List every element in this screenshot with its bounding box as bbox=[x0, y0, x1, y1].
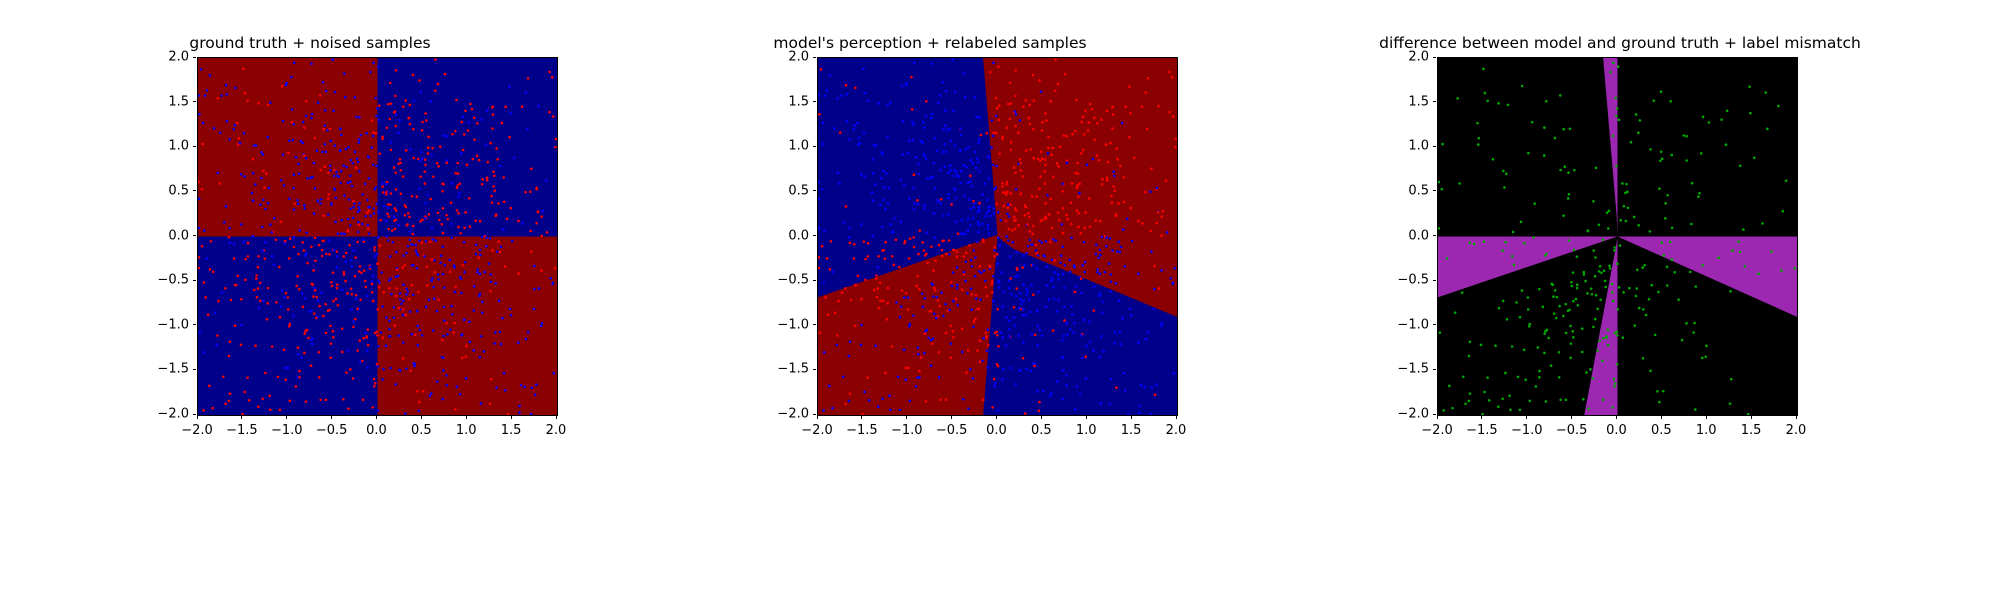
decision-regions-1 bbox=[818, 58, 1177, 415]
xtick-label: 0.0 bbox=[1606, 423, 1627, 438]
ytick-mark bbox=[813, 146, 817, 147]
subplot-title-2: difference between model and ground trut… bbox=[1240, 34, 2000, 52]
xtick-mark bbox=[1796, 416, 1797, 420]
ytick-label: 2.0 bbox=[761, 50, 809, 65]
xtick-label: 2.0 bbox=[546, 423, 567, 438]
xtick-label: −2.0 bbox=[181, 423, 213, 438]
xtick-label: 2.0 bbox=[1786, 423, 1807, 438]
xtick-mark bbox=[197, 416, 198, 420]
xtick-mark bbox=[996, 416, 997, 420]
ytick-mark bbox=[813, 101, 817, 102]
ytick-label: 1.5 bbox=[141, 94, 189, 109]
xtick-mark bbox=[906, 416, 907, 420]
ytick-label: −1.5 bbox=[141, 362, 189, 377]
xtick-label: −0.5 bbox=[936, 423, 968, 438]
plot-area-1 bbox=[817, 57, 1178, 416]
ytick-mark bbox=[193, 235, 197, 236]
subplot-ground-truth: ground truth + noised samples 2.01.51.00… bbox=[0, 0, 620, 600]
xtick-mark bbox=[1616, 416, 1617, 420]
ytick-label: 0.5 bbox=[141, 183, 189, 198]
ytick-mark bbox=[1433, 324, 1437, 325]
ytick-label: −0.5 bbox=[141, 273, 189, 288]
ytick-mark bbox=[1433, 101, 1437, 102]
xtick-mark bbox=[421, 416, 422, 420]
subplot-title-1: model's perception + relabeled samples bbox=[620, 34, 1240, 52]
ytick-label: −0.5 bbox=[761, 273, 809, 288]
xtick-mark bbox=[1571, 416, 1572, 420]
xtick-mark bbox=[1437, 416, 1438, 420]
xtick-label: −2.0 bbox=[801, 423, 833, 438]
ytick-mark bbox=[193, 57, 197, 58]
ytick-label: −1.0 bbox=[761, 317, 809, 332]
ytick-mark bbox=[813, 414, 817, 415]
ytick-label: 1.5 bbox=[761, 94, 809, 109]
ytick-mark bbox=[1433, 235, 1437, 236]
ytick-mark bbox=[1433, 146, 1437, 147]
xtick-label: −0.5 bbox=[316, 423, 348, 438]
xtick-mark bbox=[466, 416, 467, 420]
ytick-mark bbox=[1433, 369, 1437, 370]
ytick-mark bbox=[193, 190, 197, 191]
xtick-label: 2.0 bbox=[1166, 423, 1187, 438]
ytick-mark bbox=[1433, 414, 1437, 415]
ytick-label: −2.0 bbox=[761, 407, 809, 422]
ytick-mark bbox=[193, 280, 197, 281]
xtick-label: −1.5 bbox=[1466, 423, 1498, 438]
xtick-mark bbox=[1526, 416, 1527, 420]
ytick-label: 2.0 bbox=[1381, 50, 1429, 65]
xtick-label: −2.0 bbox=[1421, 423, 1453, 438]
ytick-label: 1.5 bbox=[1381, 94, 1429, 109]
ytick-label: −1.5 bbox=[1381, 362, 1429, 377]
ytick-mark bbox=[813, 190, 817, 191]
xtick-label: 1.5 bbox=[501, 423, 522, 438]
xtick-mark bbox=[286, 416, 287, 420]
ytick-label: 1.0 bbox=[761, 139, 809, 154]
ytick-label: −2.0 bbox=[141, 407, 189, 422]
plot-area-0 bbox=[197, 57, 558, 416]
ytick-label: 1.0 bbox=[1381, 139, 1429, 154]
xtick-label: −0.5 bbox=[1556, 423, 1588, 438]
ytick-mark bbox=[813, 280, 817, 281]
xtick-label: 0.0 bbox=[986, 423, 1007, 438]
subplot-title-0: ground truth + noised samples bbox=[0, 34, 620, 52]
xtick-label: −1.0 bbox=[1511, 423, 1543, 438]
ytick-label: −1.5 bbox=[761, 362, 809, 377]
xtick-label: −1.0 bbox=[891, 423, 923, 438]
xtick-mark bbox=[1041, 416, 1042, 420]
ytick-label: −0.5 bbox=[1381, 273, 1429, 288]
xtick-mark bbox=[241, 416, 242, 420]
ytick-label: 2.0 bbox=[141, 50, 189, 65]
xtick-label: 1.5 bbox=[1741, 423, 1762, 438]
xtick-mark bbox=[1176, 416, 1177, 420]
xtick-mark bbox=[556, 416, 557, 420]
xtick-mark bbox=[511, 416, 512, 420]
ytick-mark bbox=[193, 414, 197, 415]
xtick-mark bbox=[1481, 416, 1482, 420]
matplotlib-figure: ground truth + noised samples 2.01.51.00… bbox=[0, 0, 2000, 600]
ytick-label: 0.0 bbox=[141, 228, 189, 243]
xtick-mark bbox=[376, 416, 377, 420]
xtick-mark bbox=[1661, 416, 1662, 420]
xtick-mark bbox=[861, 416, 862, 420]
xtick-label: 1.0 bbox=[1696, 423, 1717, 438]
ytick-mark bbox=[193, 369, 197, 370]
decision-regions-0 bbox=[198, 58, 557, 415]
xtick-label: 0.5 bbox=[1651, 423, 1672, 438]
ytick-mark bbox=[193, 324, 197, 325]
ytick-mark bbox=[1433, 280, 1437, 281]
xtick-mark bbox=[1086, 416, 1087, 420]
ytick-mark bbox=[1433, 190, 1437, 191]
ytick-label: −2.0 bbox=[1381, 407, 1429, 422]
xtick-label: 1.0 bbox=[456, 423, 477, 438]
xtick-label: −1.5 bbox=[226, 423, 258, 438]
xtick-mark bbox=[1706, 416, 1707, 420]
ytick-mark bbox=[813, 57, 817, 58]
ytick-mark bbox=[1433, 57, 1437, 58]
xtick-mark bbox=[1131, 416, 1132, 420]
xtick-label: 0.5 bbox=[411, 423, 432, 438]
ytick-label: 1.0 bbox=[141, 139, 189, 154]
ytick-mark bbox=[813, 369, 817, 370]
xtick-label: 0.0 bbox=[366, 423, 387, 438]
decision-regions-2 bbox=[1438, 58, 1797, 415]
xtick-mark bbox=[1751, 416, 1752, 420]
xtick-label: 0.5 bbox=[1031, 423, 1052, 438]
xtick-mark bbox=[331, 416, 332, 420]
xtick-label: 1.0 bbox=[1076, 423, 1097, 438]
subplot-difference: difference between model and ground trut… bbox=[1240, 0, 2000, 600]
ytick-label: 0.0 bbox=[761, 228, 809, 243]
xtick-label: −1.5 bbox=[846, 423, 878, 438]
ytick-mark bbox=[193, 146, 197, 147]
ytick-mark bbox=[193, 101, 197, 102]
ytick-label: 0.0 bbox=[1381, 228, 1429, 243]
ytick-mark bbox=[813, 324, 817, 325]
xtick-label: 1.5 bbox=[1121, 423, 1142, 438]
ytick-label: −1.0 bbox=[141, 317, 189, 332]
xtick-mark bbox=[951, 416, 952, 420]
xtick-label: −1.0 bbox=[271, 423, 303, 438]
ytick-label: −1.0 bbox=[1381, 317, 1429, 332]
ytick-label: 0.5 bbox=[1381, 183, 1429, 198]
xtick-mark bbox=[817, 416, 818, 420]
ytick-label: 0.5 bbox=[761, 183, 809, 198]
plot-area-2 bbox=[1437, 57, 1798, 416]
ytick-mark bbox=[813, 235, 817, 236]
subplot-model-perception: model's perception + relabeled samples 2… bbox=[620, 0, 1240, 600]
